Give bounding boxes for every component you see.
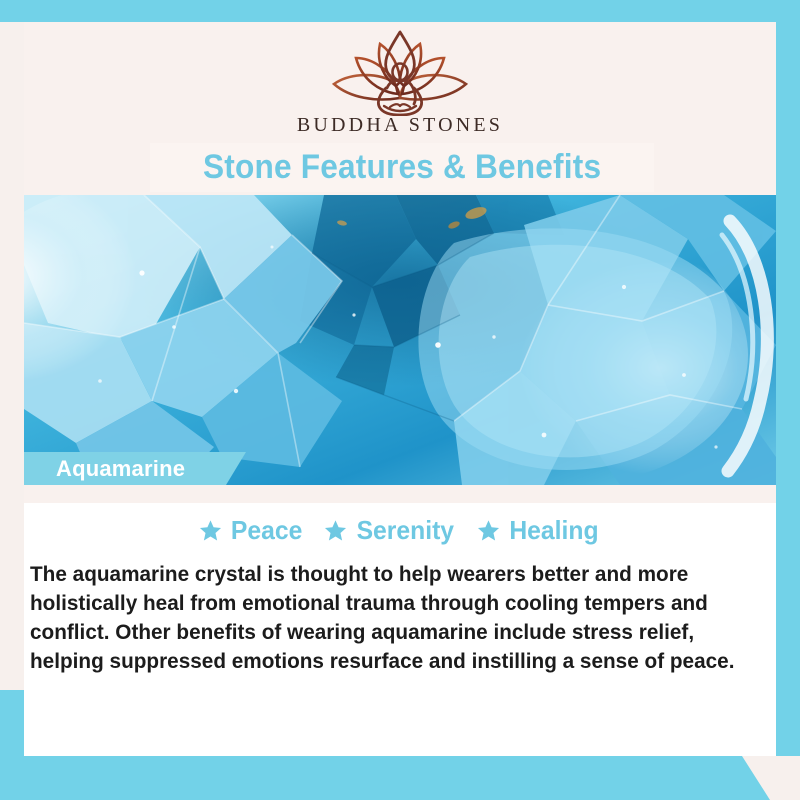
- frame-bottom-border: [0, 756, 800, 800]
- keyword-item-serenity: Serenity: [324, 515, 457, 546]
- poster-card: BUDDHA STONES Stone Features & Benefits: [0, 0, 800, 800]
- frame-right-border: [776, 0, 800, 756]
- keyword-label: Serenity: [357, 515, 454, 546]
- frame-top-border: [0, 0, 800, 22]
- star-icon: [477, 519, 500, 542]
- aquamarine-crystal-photo: [24, 195, 776, 485]
- stone-name-label: Aquamarine: [56, 456, 185, 482]
- brand-name: BUDDHA STONES: [297, 114, 503, 137]
- description-paragraph: The aquamarine crystal is thought to hel…: [30, 560, 746, 676]
- brand-header: BUDDHA STONES: [24, 22, 776, 142]
- stone-name-tag: Aquamarine: [24, 452, 246, 485]
- title-banner: Stone Features & Benefits: [150, 143, 654, 192]
- keyword-list: Peace Serenity Healing: [24, 515, 776, 546]
- star-icon: [324, 519, 347, 542]
- page-title: Stone Features & Benefits: [203, 148, 601, 187]
- keyword-label: Healing: [509, 515, 598, 546]
- keyword-item-peace: Peace: [199, 515, 304, 546]
- star-icon: [199, 519, 222, 542]
- lotus-meditation-icon: [324, 28, 476, 116]
- keyword-item-healing: Healing: [477, 515, 601, 546]
- keyword-label: Peace: [231, 515, 302, 546]
- crystal-photo-art: [24, 195, 776, 485]
- content-panel: Peace Serenity Healing The aquamarine cr…: [24, 503, 776, 756]
- content-top-strip: [24, 485, 776, 503]
